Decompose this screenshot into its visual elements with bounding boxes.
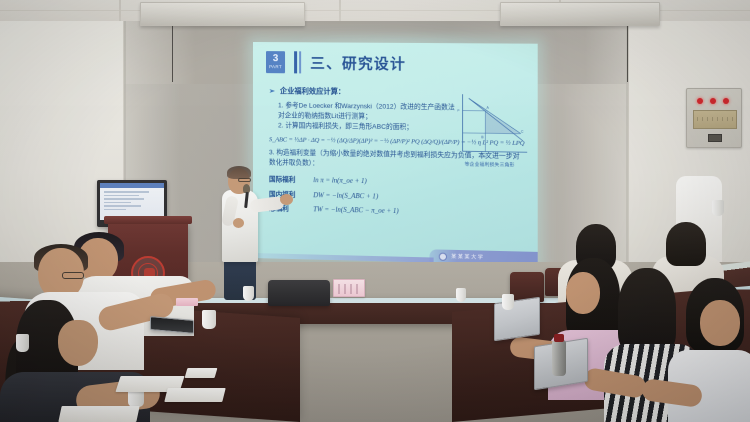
welfare-equation: TW = −ln(S_ABC − π_oe + 1)	[313, 206, 398, 215]
slide-lead-text: 企业福利效应计算：	[280, 86, 345, 97]
wall-control-panel[interactable]	[686, 88, 742, 148]
slide-title-row: 3 PART 三、研究设计	[266, 51, 406, 74]
svg-text:A: A	[486, 106, 489, 110]
attendee-face	[700, 300, 740, 346]
projector-screen-housing-right	[500, 2, 660, 26]
part-number: 3	[273, 54, 279, 64]
name-placard	[176, 298, 198, 306]
screen-drop-cord-right	[627, 26, 628, 82]
control-panel-switch[interactable]	[708, 134, 722, 142]
attendee-glasses-icon	[62, 272, 84, 279]
control-panel-window	[693, 110, 737, 129]
welfare-triangle-chart: A B C P Q	[454, 92, 529, 160]
laptop[interactable]	[494, 297, 540, 341]
paper-stack	[58, 406, 139, 422]
paper-cup	[243, 286, 254, 301]
paper-cup	[16, 334, 29, 352]
monitor-screen	[100, 183, 164, 220]
led-indicator-icon	[710, 98, 716, 104]
svg-text:Q: Q	[484, 154, 487, 158]
slide-title: 三、研究设计	[310, 52, 406, 74]
attendee-head	[666, 222, 706, 266]
welfare-row: 总福利 TW = −ln(S_ABC − π_oe + 1)	[269, 202, 525, 217]
paper-stack	[185, 368, 218, 378]
paper-cup	[712, 200, 724, 216]
welfare-equation: DW = −ln(S_ABC + 1)	[313, 192, 378, 200]
control-panel-leds	[697, 98, 729, 104]
paper-stack	[164, 388, 225, 402]
welfare-label: 国际福利	[269, 173, 303, 184]
bottle-cap	[554, 334, 564, 342]
paper-cup	[456, 288, 466, 302]
paper-cup	[202, 310, 216, 329]
welfare-row: 国际福利 ln π = ln(π_oe + 1)	[269, 173, 525, 188]
led-indicator-icon	[723, 98, 729, 104]
name-placard	[333, 279, 365, 297]
arrow-bullet-icon: ➢	[269, 87, 275, 95]
presenter-glasses-icon	[238, 178, 251, 182]
svg-text:P: P	[457, 108, 459, 112]
presenter-hand	[280, 194, 293, 205]
university-seal-icon	[439, 252, 447, 260]
thermos-bottle	[552, 340, 566, 376]
part-badge: 3 PART	[266, 51, 285, 73]
welfare-formula-list: 国际福利 ln π = ln(π_oe + 1) 国内福利 DW = −ln(S…	[269, 173, 525, 218]
paper-cup	[502, 294, 514, 310]
svg-text:B: B	[481, 135, 484, 139]
seminar-room-photo: 3 PART 三、研究设计 ➢ 企业福利效应计算： 1. 参考De Loecke…	[0, 0, 750, 422]
svg-text:C: C	[521, 130, 524, 134]
screen-drop-cord-left	[172, 26, 173, 82]
attendee-head	[618, 268, 676, 354]
slide-footer-text: 某某某大学	[451, 253, 484, 261]
projected-slide: 3 PART 三、研究设计 ➢ 企业福利效应计算： 1. 参考De Loecke…	[253, 42, 538, 265]
attendee-face	[58, 320, 98, 366]
presenter-hand-mic	[233, 218, 244, 228]
title-accent-bars	[294, 51, 301, 73]
welfare-equation: ln π = ln(π_oe + 1)	[313, 177, 367, 185]
led-indicator-icon	[697, 98, 703, 104]
welfare-row: 国内福利 DW = −ln(S_ABC + 1)	[269, 188, 525, 203]
attendee-face	[566, 272, 600, 314]
chair	[268, 280, 330, 306]
placard-text	[338, 284, 362, 294]
part-word: PART	[269, 65, 282, 70]
projector-screen-housing-left	[140, 2, 305, 26]
